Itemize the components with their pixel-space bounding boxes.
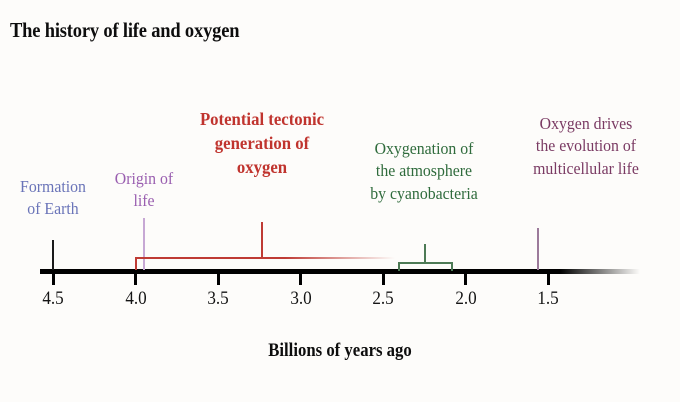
axis-tick-1-5 — [547, 274, 550, 285]
axis-tick-label-3-5: 3.5 — [207, 288, 228, 310]
axis-tick-4-5 — [52, 274, 55, 285]
axis-tick-label-2-5: 2.5 — [372, 288, 393, 310]
annotation-line: of Earth — [20, 198, 86, 220]
connector-tectonic-oxygen — [261, 222, 263, 258]
axis-tick-label-1-5: 1.5 — [537, 288, 558, 310]
connector-oxygenation — [424, 244, 426, 263]
annotation-line: Oxygen drives — [533, 113, 639, 135]
annotation-line: Oxygenation of — [370, 138, 478, 160]
axis-tick-3-5 — [217, 274, 220, 285]
axis-line — [40, 269, 640, 274]
axis-tick-label-3-0: 3.0 — [290, 288, 311, 310]
annotation-line: life — [115, 190, 173, 212]
annotation-oxygenation: Oxygenation of the atmosphere by cyanoba… — [370, 138, 478, 205]
annotation-line: generation of — [200, 132, 324, 156]
axis-tick-label-2-0: 2.0 — [455, 288, 476, 310]
annotation-line: Potential tectonic — [200, 108, 324, 132]
annotation-origin-of-life: Origin of life — [115, 168, 173, 213]
bracket-top-tectonic — [135, 257, 395, 259]
annotation-line: the evolution of — [533, 135, 639, 157]
annotation-formation-of-earth: Formation of Earth — [20, 176, 86, 221]
axis-tick-2-0 — [464, 274, 467, 285]
axis-tick-3-0 — [299, 274, 302, 285]
axis-tick-label-4-5: 4.5 — [42, 288, 63, 310]
timeline-axis: 4.5 4.0 3.5 3.0 2.5 2.0 1.5 Billions of … — [0, 0, 680, 402]
connector-formation-of-earth — [52, 240, 54, 270]
axis-tick-4-0 — [134, 274, 137, 285]
connector-oxygen-drives-evolution — [537, 228, 539, 270]
annotation-tectonic-oxygen: Potential tectonic generation of oxygen — [200, 108, 324, 179]
axis-tick-2-5 — [382, 274, 385, 285]
annotation-line: by cyanobacteria — [370, 183, 478, 205]
annotation-line: oxygen — [200, 156, 324, 180]
annotation-line: multicellular life — [533, 158, 639, 180]
timeline-figure: The history of life and oxygen 4.5 4.0 3… — [0, 0, 680, 402]
annotation-line: the atmosphere — [370, 160, 478, 182]
axis-tick-label-4-0: 4.0 — [125, 288, 146, 310]
annotation-line: Origin of — [115, 168, 173, 190]
annotation-line: Formation — [20, 176, 86, 198]
annotation-oxygen-drives-evolution: Oxygen drives the evolution of multicell… — [533, 113, 639, 180]
axis-title: Billions of years ago — [268, 340, 412, 362]
connector-origin-of-life — [143, 218, 145, 270]
